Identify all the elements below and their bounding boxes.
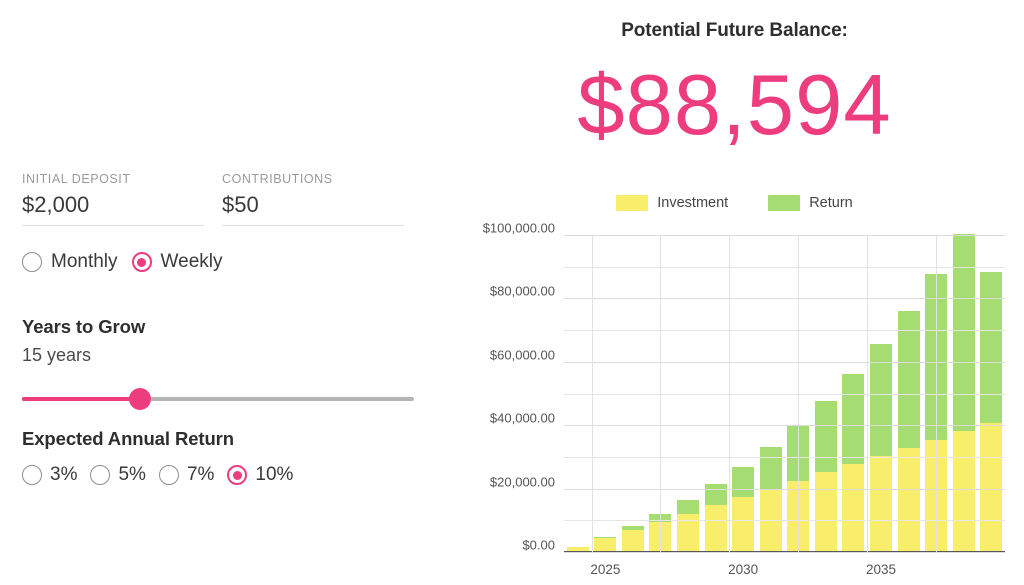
- radio-unselected-icon[interactable]: [22, 465, 42, 485]
- chart-bar-segment-investment: [870, 456, 892, 553]
- return-option-3-label: 3%: [50, 465, 77, 485]
- years-to-grow-slider[interactable]: [22, 390, 414, 408]
- return-option-5[interactable]: 5%: [90, 465, 145, 485]
- chart-x-tick-label: 2030: [728, 562, 758, 577]
- chart-vertical-gridline: [936, 236, 937, 553]
- chart-bar-segment-investment: [815, 472, 837, 553]
- frequency-option-monthly[interactable]: Monthly: [22, 252, 118, 272]
- contributions-input[interactable]: [222, 190, 404, 226]
- chart-bar-segment-return: [677, 500, 699, 514]
- chart-vertical-gridline: [729, 236, 730, 553]
- expected-annual-return-group: 3% 5% 7% 10%: [22, 465, 293, 485]
- chart-y-tick-label: $40,000.00: [490, 411, 555, 426]
- legend-item-return: Return: [768, 195, 853, 211]
- return-option-7[interactable]: 7%: [159, 465, 214, 485]
- potential-balance-label: Potential Future Balance:: [445, 20, 1024, 42]
- years-to-grow-title: Years to Grow: [22, 316, 145, 338]
- chart-bar-segment-investment: [953, 431, 975, 553]
- chart-gridline: [564, 394, 1005, 395]
- chart-gridline: [564, 362, 1005, 363]
- chart-bar-segment-investment: [842, 464, 864, 553]
- frequency-option-weekly-label: Weekly: [161, 252, 223, 272]
- chart-gridline: [564, 552, 1005, 553]
- chart-y-tick-label: $60,000.00: [490, 347, 555, 362]
- chart-vertical-gridline: [660, 236, 661, 553]
- growth-chart: $0.00$20,000.00$40,000.00$60,000.00$80,0…: [450, 228, 1024, 583]
- compound-interest-calculator: INITIAL DEPOSIT CONTRIBUTIONS Monthly We…: [0, 0, 1024, 585]
- chart-bar[interactable]: [980, 272, 1002, 553]
- expected-annual-return-title: Expected Annual Return: [22, 428, 234, 450]
- chart-bar[interactable]: [705, 484, 727, 553]
- chart-gridline: [564, 235, 1005, 236]
- chart-bar-segment-investment: [732, 497, 754, 553]
- return-option-10-label: 10%: [255, 465, 293, 485]
- initial-deposit-label: INITIAL DEPOSIT: [22, 172, 204, 186]
- inputs-panel: INITIAL DEPOSIT CONTRIBUTIONS Monthly We…: [0, 0, 445, 585]
- chart-gridline: [564, 489, 1005, 490]
- chart-bar-segment-return: [760, 447, 782, 489]
- chart-y-tick-label: $80,000.00: [490, 284, 555, 299]
- chart-vertical-gridline: [592, 236, 593, 553]
- chart-bar-segment-return: [815, 401, 837, 472]
- chart-y-tick-label: $0.00: [522, 538, 555, 553]
- chart-x-tick-label: 2035: [866, 562, 896, 577]
- amount-fields: INITIAL DEPOSIT CONTRIBUTIONS: [22, 172, 422, 226]
- contribution-frequency-group: Monthly Weekly: [22, 252, 222, 272]
- legend-swatch-investment: [616, 195, 648, 211]
- chart-gridline: [564, 298, 1005, 299]
- chart-x-tick-label: 2025: [590, 562, 620, 577]
- chart-vertical-gridline: [867, 236, 868, 553]
- radio-unselected-icon[interactable]: [22, 252, 42, 272]
- chart-gridline: [564, 267, 1005, 268]
- chart-bar[interactable]: [732, 467, 754, 553]
- chart-gridline: [564, 425, 1005, 426]
- chart-bar-segment-investment: [898, 448, 920, 553]
- chart-bars: [564, 236, 1005, 553]
- legend-label-investment: Investment: [657, 195, 728, 211]
- chart-bar-segment-return: [898, 311, 920, 448]
- chart-bar-segment-return: [705, 484, 727, 505]
- years-to-grow-value: 15 years: [22, 345, 91, 366]
- chart-legend: Investment Return: [445, 195, 1024, 211]
- contributions-field: CONTRIBUTIONS: [222, 172, 404, 226]
- chart-bar[interactable]: [677, 500, 699, 553]
- results-panel: Potential Future Balance: $88,594 Invest…: [445, 0, 1024, 585]
- chart-bar-segment-investment: [705, 505, 727, 553]
- frequency-option-monthly-label: Monthly: [51, 252, 118, 272]
- chart-gridline: [564, 520, 1005, 521]
- potential-balance-amount: $88,594: [445, 60, 1024, 152]
- chart-bar[interactable]: [898, 311, 920, 553]
- radio-selected-icon[interactable]: [132, 252, 152, 272]
- radio-selected-icon[interactable]: [227, 465, 247, 485]
- return-option-5-label: 5%: [118, 465, 145, 485]
- legend-item-investment: Investment: [616, 195, 728, 211]
- radio-unselected-icon[interactable]: [90, 465, 110, 485]
- return-option-10[interactable]: 10%: [227, 465, 293, 485]
- legend-swatch-return: [768, 195, 800, 211]
- chart-bar-segment-return: [842, 374, 864, 464]
- chart-bar-segment-investment: [622, 530, 644, 553]
- initial-deposit-field: INITIAL DEPOSIT: [22, 172, 204, 226]
- frequency-option-weekly[interactable]: Weekly: [132, 252, 223, 272]
- chart-bar[interactable]: [842, 374, 864, 553]
- contributions-label: CONTRIBUTIONS: [222, 172, 404, 186]
- chart-bar[interactable]: [815, 401, 837, 553]
- chart-gridline: [564, 457, 1005, 458]
- chart-bar[interactable]: [760, 447, 782, 553]
- return-option-3[interactable]: 3%: [22, 465, 77, 485]
- chart-bar-segment-return: [953, 234, 975, 432]
- chart-plot-area: $0.00$20,000.00$40,000.00$60,000.00$80,0…: [564, 236, 1005, 553]
- return-option-7-label: 7%: [187, 465, 214, 485]
- chart-bar[interactable]: [622, 526, 644, 553]
- chart-bar-segment-return: [732, 467, 754, 497]
- chart-y-tick-label: $20,000.00: [490, 474, 555, 489]
- chart-vertical-gridline: [798, 236, 799, 553]
- slider-thumb[interactable]: [129, 388, 151, 410]
- initial-deposit-input[interactable]: [22, 190, 204, 226]
- chart-bar[interactable]: [870, 344, 892, 553]
- chart-bar-segment-return: [980, 272, 1002, 423]
- chart-y-tick-label: $100,000.00: [483, 221, 555, 236]
- radio-unselected-icon[interactable]: [159, 465, 179, 485]
- legend-label-return: Return: [809, 195, 853, 211]
- slider-fill: [22, 397, 140, 401]
- chart-gridline: [564, 330, 1005, 331]
